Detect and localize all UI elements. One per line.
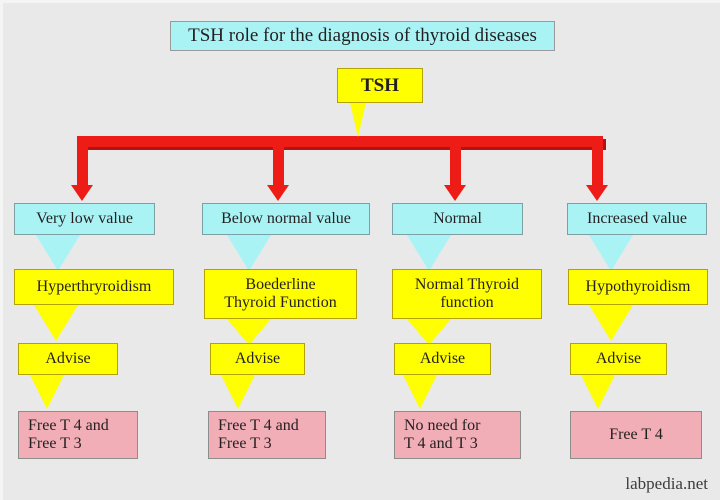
result-node-2: Below normal value xyxy=(202,203,370,235)
connector-drop-4 xyxy=(592,136,603,187)
diagnosis-node-4: Hypothyroidism xyxy=(568,269,708,305)
test-node-3: No need forT 4 and T 3 xyxy=(394,411,521,459)
action-node-4: Advise xyxy=(570,343,667,375)
connector-bus-horizontal xyxy=(77,136,603,147)
diagnosis-node-4-tail xyxy=(589,305,633,341)
connector-drop-1 xyxy=(77,136,88,187)
test-node-2: Free T 4 andFree T 3 xyxy=(208,411,326,459)
root-node-tail xyxy=(350,103,366,137)
test-node-1: Free T 4 andFree T 3 xyxy=(18,411,138,459)
action-node-3: Advise xyxy=(394,343,491,375)
result-node-1: Very low value xyxy=(14,203,155,235)
root-node-tsh: TSH xyxy=(337,68,423,103)
diagnosis-node-2: BoederlineThyroid Function xyxy=(204,269,357,319)
action-node-3-tail xyxy=(403,375,437,409)
result-node-4-tail xyxy=(589,235,633,271)
diagnosis-node-3: Normal Thyroidfunction xyxy=(392,269,542,319)
action-node-4-tail xyxy=(581,375,615,409)
action-node-2: Advise xyxy=(210,343,305,375)
result-node-1-tail xyxy=(36,235,80,271)
diagnosis-node-2-tail xyxy=(227,319,271,345)
connector-drop-3 xyxy=(450,136,461,187)
test-node-4: Free T 4 xyxy=(570,411,702,459)
action-node-1-tail xyxy=(30,375,64,409)
diagnosis-node-1-tail xyxy=(34,305,78,341)
action-node-1: Advise xyxy=(18,343,118,375)
connector-drop-2 xyxy=(273,136,284,187)
result-node-2-tail xyxy=(227,235,271,271)
connector-arrowhead-4 xyxy=(586,185,608,201)
result-node-3: Normal xyxy=(392,203,523,235)
diagram-title: TSH role for the diagnosis of thyroid di… xyxy=(170,21,555,51)
connector-arrowhead-2 xyxy=(267,185,289,201)
result-node-3-tail xyxy=(407,235,451,271)
connector-arrowhead-3 xyxy=(444,185,466,201)
watermark-label: labpedia.net xyxy=(625,474,708,494)
result-node-4: Increased value xyxy=(567,203,707,235)
action-node-2-tail xyxy=(221,375,255,409)
diagnosis-node-1: Hyperthryroidism xyxy=(14,269,174,305)
diagram-canvas: TSH role for the diagnosis of thyroid di… xyxy=(0,0,720,500)
diagnosis-node-3-tail xyxy=(407,319,451,345)
connector-arrowhead-1 xyxy=(71,185,93,201)
